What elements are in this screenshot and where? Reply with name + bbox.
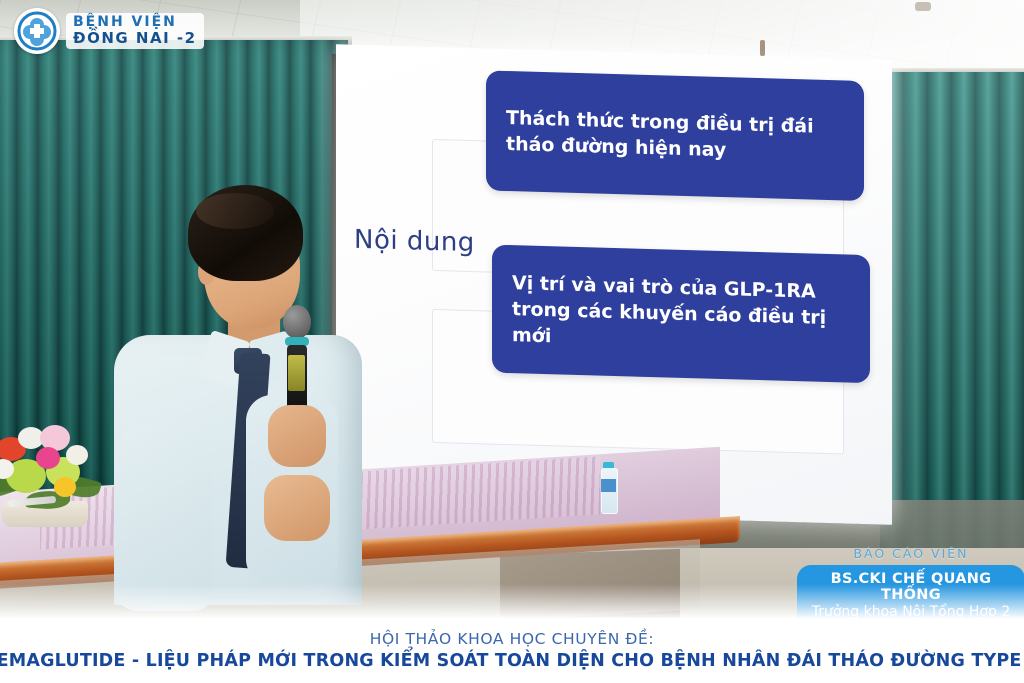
presenter-left-arm (114, 421, 212, 611)
slide-item-1-text: Thách thức trong điều trị đái tháo đường… (486, 104, 864, 167)
bottom-banner: HỘI THẢO KHOA HỌC CHUYÊN ĐỀ: SEMAGLUTIDE… (0, 618, 1024, 683)
hospital-logo-line2: ĐỒNG NAI -2 (73, 31, 197, 46)
hospital-logo-line1: BỆNH VIỆN (73, 15, 197, 29)
water-bottle (601, 462, 616, 512)
presenter-hair-highlight (196, 193, 274, 229)
slide-item-2: Vị trí và vai trò của GLP-1RA trong các … (492, 245, 870, 384)
banner-subtitle: HỘI THẢO KHOA HỌC CHUYÊN ĐỀ: (370, 630, 655, 648)
smoke-detector-icon (915, 2, 931, 11)
hospital-logo-text: BỆNH VIỆN ĐỒNG NAI -2 (66, 13, 204, 49)
microphone-label (288, 355, 305, 391)
banner-fade (0, 584, 1024, 618)
conference-photo: Nội dung Thách thức trong điều trị đái t… (0, 0, 1024, 683)
curtain-right (880, 72, 1024, 567)
slide-item-1: Thách thức trong điều trị đái tháo đường… (486, 70, 864, 201)
banner-title: SEMAGLUTIDE - LIỆU PHÁP MỚI TRONG KIỂM S… (0, 651, 1024, 671)
presenter-lower-hand (264, 475, 330, 541)
sprinkler-icon (760, 40, 765, 56)
hospital-logo: BỆNH VIỆN ĐỒNG NAI -2 (14, 8, 204, 54)
speaker-kicker: BÁO CÁO VIÊN (797, 546, 1024, 561)
presenter-upper-hand (268, 405, 326, 467)
microphone-head (283, 305, 311, 339)
bottle-label (601, 479, 616, 492)
hospital-cross-icon (14, 8, 60, 54)
slide-item-2-text: Vị trí và vai trò của GLP-1RA trong các … (492, 269, 870, 358)
presenter (78, 185, 378, 605)
